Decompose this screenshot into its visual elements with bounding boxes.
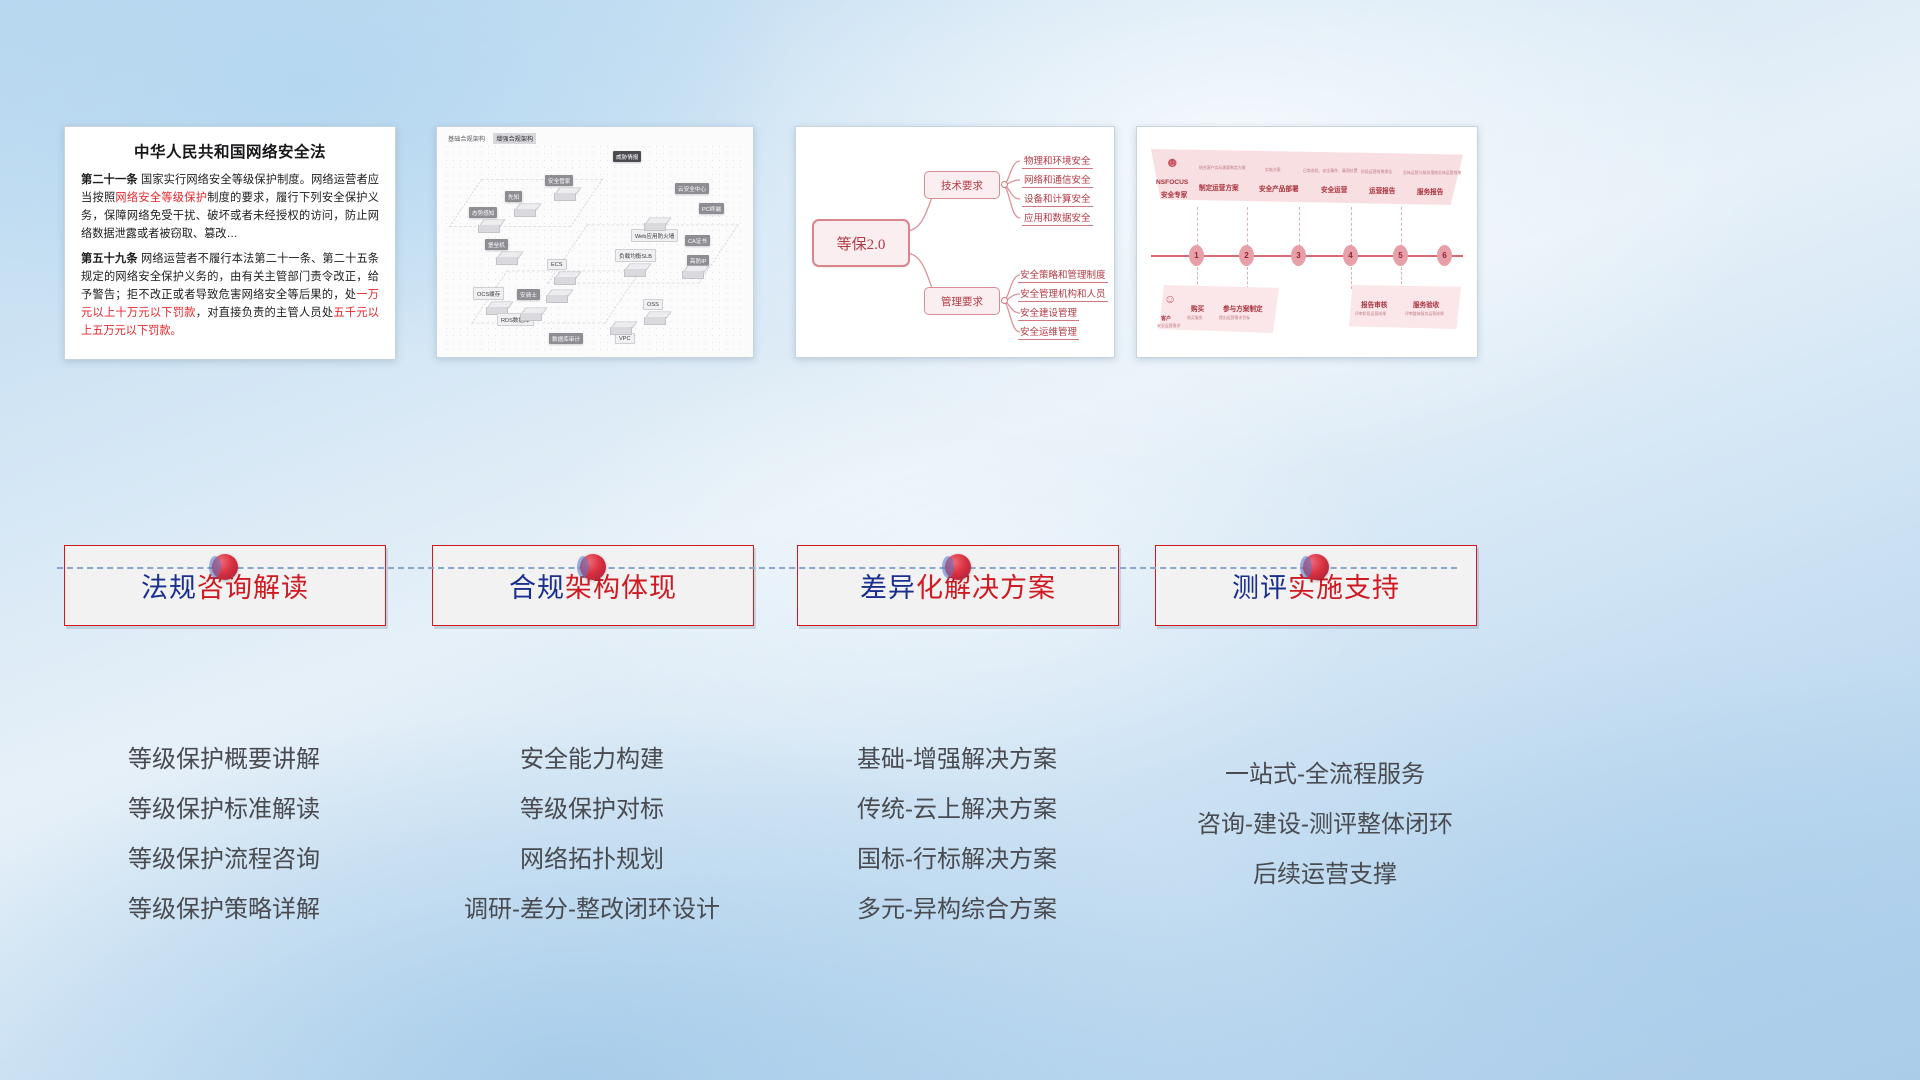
- step-title: 服务报告: [1417, 186, 1443, 196]
- mindmap-root: 等保2.0: [812, 219, 910, 267]
- law-run: ，对直接负责的主管人员处: [196, 307, 334, 319]
- brand-name: NSFOCUS: [1156, 179, 1188, 186]
- tab-basic-architecture[interactable]: 基础合规架构: [445, 133, 488, 144]
- timeline-dashed-line: [57, 567, 1457, 569]
- card-nsfocus-timeline[interactable]: ☻ NSFOCUS 安全专家 结合客户实际需要制定方案 制定运营方案 实施方案 …: [1136, 126, 1478, 358]
- list-item: 后续运营支撑: [1155, 850, 1495, 900]
- list-item: 基础-增强解决方案: [797, 735, 1117, 785]
- customer-sub: 安全运营需求: [1157, 323, 1180, 329]
- card-dengbao-mindmap[interactable]: 等保2.0 技术要求 物理和环境安全 网络和通信安全 设备和计算安全 应用和数据…: [795, 126, 1115, 358]
- bottom-item-sub: 评审整体服务运营成果: [1405, 311, 1444, 317]
- timeline-step[interactable]: 5: [1393, 245, 1408, 266]
- timeline-step[interactable]: 6: [1437, 245, 1452, 266]
- step-sub: 阶段运营效果报告: [1361, 169, 1392, 175]
- step-title: 安全产品部署: [1259, 183, 1299, 193]
- mindmap-leaf: 物理和环境安全: [1022, 153, 1093, 169]
- differentiated-solution-items: 基础-增强解决方案 传统-云上解决方案 国标-行标解决方案 多元-异构综合方案: [797, 735, 1117, 935]
- mindmap-leaf: 网络和通信安全: [1022, 172, 1093, 188]
- mindmap-leaf: 安全建设管理: [1018, 305, 1079, 321]
- plate-title-head: 法规: [141, 573, 197, 603]
- regulation-consulting-items: 等级保护概要讲解 等级保护标准解读 等级保护流程咨询 等级保护策略详解: [64, 735, 384, 935]
- node-ca-cert: CA证书: [685, 235, 710, 246]
- assessment-support-items: 一站式-全流程服务 咨询-建设-测评整体闭环 后续运营支撑: [1155, 750, 1495, 900]
- mindmap-leaf: 安全管理机构和人员: [1018, 286, 1108, 302]
- compliance-architecture-items: 安全能力构建 等级保护对标 网络拓扑规划 调研-差分-整改闭环设计: [432, 735, 752, 935]
- law-title: 中华人民共和国网络安全法: [81, 140, 379, 162]
- step-title: 运营报告: [1369, 185, 1395, 195]
- list-item: 国标-行标解决方案: [797, 835, 1117, 885]
- plate-title-head: 差异: [860, 573, 916, 603]
- timeline-step[interactable]: 1: [1189, 245, 1204, 266]
- bottom-item-title: 购买: [1191, 303, 1204, 313]
- bottom-item-sub: 提出运营需求目标: [1219, 315, 1250, 321]
- law-run-highlight: 网络安全等级保护: [115, 192, 207, 204]
- mindmap-collapse-dot[interactable]: [1001, 181, 1008, 188]
- architecture-tabs[interactable]: 基础合规架构 增强合规架构: [445, 133, 536, 144]
- bottom-item-sub: 评审阶段运营成果: [1355, 311, 1386, 317]
- card-cybersecurity-law[interactable]: 中华人民共和国网络安全法 第二十一条 国家实行网络安全等级保护制度。网络运营者应…: [64, 126, 396, 360]
- list-item: 调研-差分-整改闭环设计: [432, 885, 752, 935]
- step-sub: 结合客户实际需要制定方案: [1199, 165, 1246, 171]
- law-paragraph-1: 第二十一条 国家实行网络安全等级保护制度。网络运营者应当按照网络安全等级保护制度…: [81, 171, 379, 244]
- timeline-step[interactable]: 2: [1239, 245, 1254, 266]
- tab-enhanced-architecture[interactable]: 增强合规架构: [493, 133, 536, 144]
- customer-label: 客户: [1161, 315, 1171, 322]
- node-anqishi: 安骑士: [517, 289, 540, 300]
- node-pc-terminal: PC终端: [699, 203, 724, 214]
- card-compliance-architecture[interactable]: 基础合规架构 增强合规架构 威胁情报 安全管家 先知 态势感知 堡垒机 ECS …: [436, 126, 754, 358]
- law-article-label-2: 第五十九条: [81, 253, 138, 265]
- bottom-item-title: 报告审核: [1361, 299, 1387, 309]
- thumbnail-cards-row: 中华人民共和国网络安全法 第二十一条 国家实行网络安全等级保护制度。网络运营者应…: [0, 126, 1920, 361]
- plate-title-head: 合规: [509, 573, 565, 603]
- step-sub: 总体运营与服务落地总体运营效果: [1403, 170, 1461, 176]
- mindmap-leaf: 设备和计算安全: [1022, 191, 1093, 207]
- customer-person-icon: ☺: [1164, 293, 1176, 305]
- mindmap-branch-technical: 技术要求: [924, 171, 1000, 199]
- bottom-item-title: 服务验收: [1413, 299, 1439, 309]
- plate-title-head: 测评: [1232, 573, 1288, 603]
- timeline-knob-2[interactable]: [580, 554, 606, 580]
- list-item: 网络拓扑规划: [432, 835, 752, 885]
- node-threat-intel: 威胁情报: [613, 151, 641, 162]
- list-item: 传统-云上解决方案: [797, 785, 1117, 835]
- step-sub: 实施方案: [1265, 167, 1281, 173]
- step-sub: 日常巡检、安全事件、漏洞处置: [1303, 168, 1357, 174]
- node-db-audit: 数据库审计: [549, 333, 583, 344]
- list-item: 等级保护对标: [432, 785, 752, 835]
- node-cloud-security-center: 云安全中心: [675, 183, 709, 194]
- step-title: 制定运营方案: [1199, 182, 1239, 192]
- list-item: 等级保护标准解读: [64, 785, 384, 835]
- expert-person-icon: ☻: [1165, 155, 1180, 169]
- mindmap-collapse-dot[interactable]: [1001, 297, 1008, 304]
- plate-title-tail: 化解决方案: [916, 573, 1056, 603]
- timeline-step[interactable]: 4: [1343, 245, 1358, 266]
- list-item: 等级保护概要讲解: [64, 735, 384, 785]
- timeline-knob-1[interactable]: [212, 554, 238, 580]
- dashed-timeline: [57, 567, 1457, 569]
- mindmap-leaf: 应用和数据安全: [1022, 210, 1093, 226]
- brand-subtitle: 安全专家: [1161, 189, 1187, 199]
- mindmap-branch-management: 管理要求: [924, 287, 1000, 315]
- timeline-knob-3[interactable]: [945, 554, 971, 580]
- list-item: 安全能力构建: [432, 735, 752, 785]
- top-banner-shape: [1151, 149, 1463, 205]
- mindmap-leaf: 安全运维管理: [1018, 324, 1079, 340]
- list-item: 多元-异构综合方案: [797, 885, 1117, 935]
- step-title: 安全运营: [1321, 184, 1347, 194]
- list-item: 咨询-建设-测评整体闭环: [1155, 800, 1495, 850]
- mindmap-leaf: 安全策略和管理制度: [1018, 267, 1108, 283]
- law-paragraph-2: 第五十九条 网络运营者不履行本法第二十一条、第二十五条规定的网络安全保护义务的，…: [81, 250, 379, 341]
- law-article-label-1: 第二十一条: [81, 174, 138, 186]
- list-item: 等级保护策略详解: [64, 885, 384, 935]
- bottom-item-sub: 购买服务: [1187, 315, 1203, 321]
- list-item: 一站式-全流程服务: [1155, 750, 1495, 800]
- timeline-knob-4[interactable]: [1303, 554, 1329, 580]
- timeline-step[interactable]: 3: [1291, 245, 1306, 266]
- bottom-item-title: 参与方案制定: [1223, 303, 1263, 313]
- list-item: 等级保护流程咨询: [64, 835, 384, 885]
